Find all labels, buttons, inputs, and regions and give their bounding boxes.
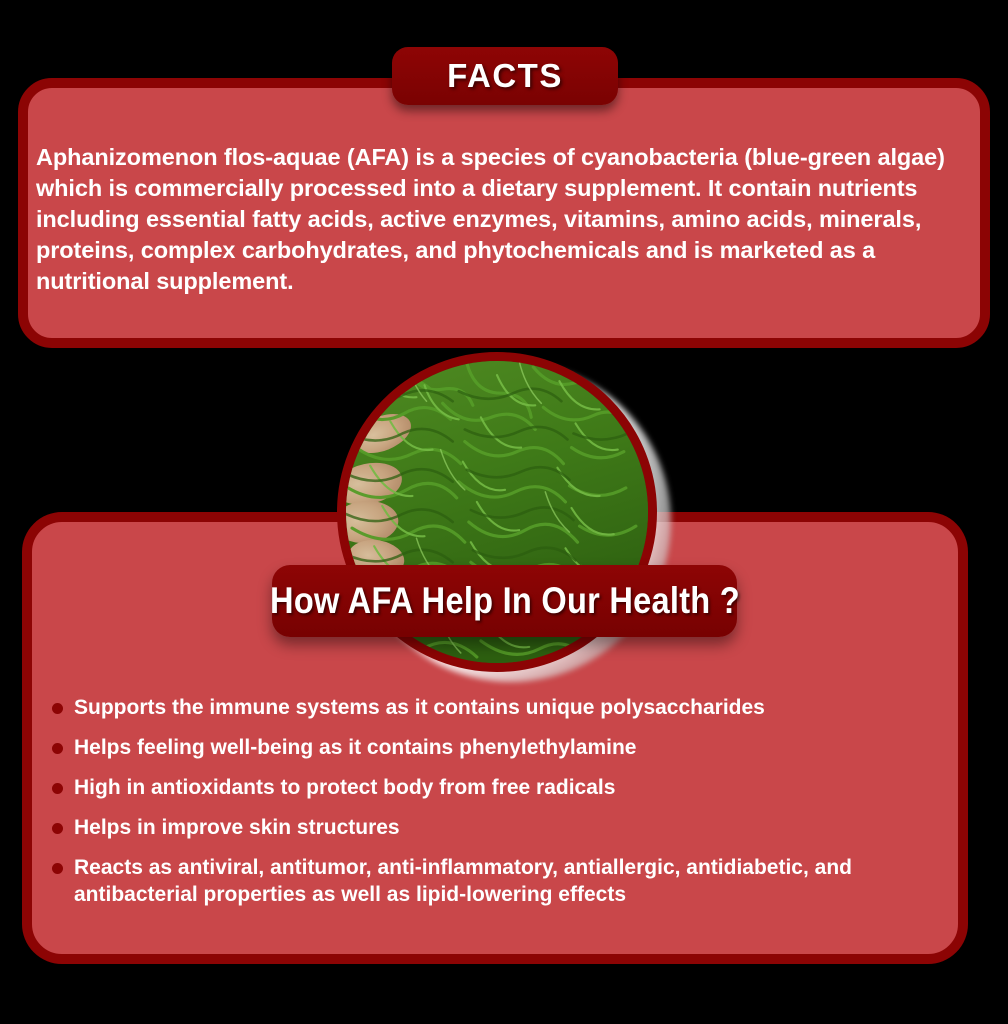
list-item: Helps in improve skin structures — [52, 814, 942, 841]
health-ribbon-banner: How AFA Help In Our Health ? — [272, 565, 737, 637]
list-item: Reacts as antiviral, antitumor, anti-inf… — [52, 854, 942, 908]
list-item: Supports the immune systems as it contai… — [52, 694, 942, 721]
benefits-list: Supports the immune systems as it contai… — [52, 694, 942, 921]
infographic-canvas: Aphanizomenon flos-aquae (AFA) is a spec… — [0, 0, 1008, 1024]
facts-paragraph: Aphanizomenon flos-aquae (AFA) is a spec… — [36, 142, 976, 297]
health-ribbon-label: How AFA Help In Our Health ? — [270, 580, 740, 622]
facts-ribbon-banner: FACTS — [392, 47, 618, 105]
list-item: Helps feeling well-being as it contains … — [52, 734, 942, 761]
facts-ribbon-label: FACTS — [447, 57, 563, 95]
list-item: High in antioxidants to protect body fro… — [52, 774, 942, 801]
